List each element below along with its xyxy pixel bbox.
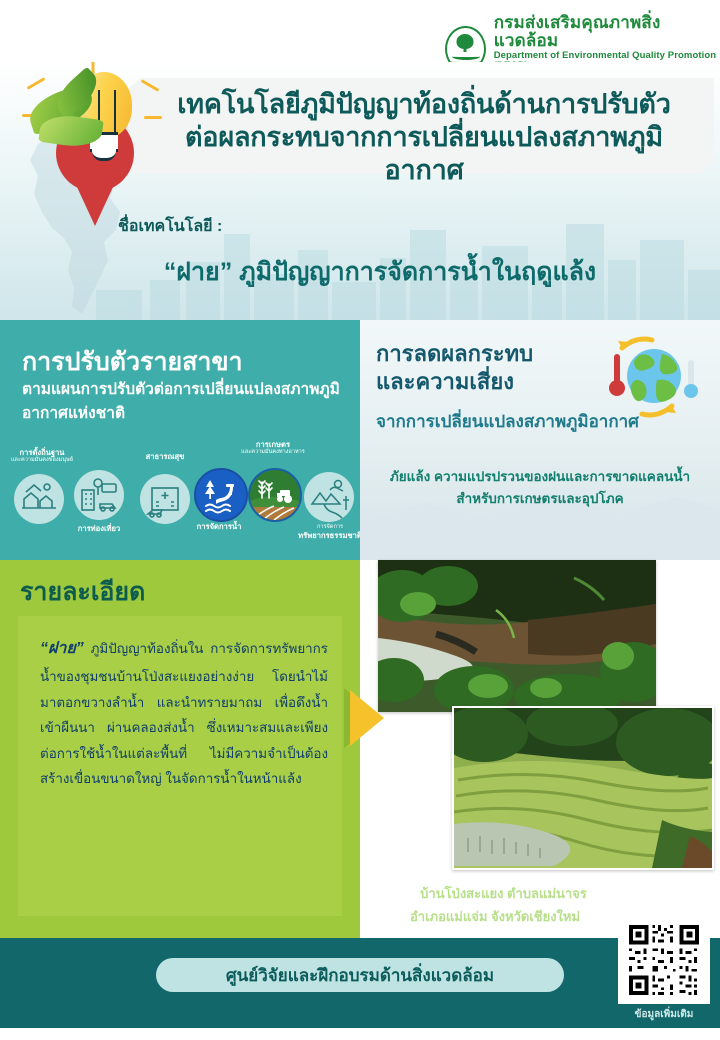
technology-label: ชื่อเทคโนโลยี :	[118, 214, 222, 239]
agriculture-crops-tractor-icon	[248, 468, 302, 522]
sector-label-agriculture: การเกษตร และความมั่นคงทางอาหาร	[234, 440, 312, 456]
risk-heading-line1: การลดผลกระทบ	[376, 341, 533, 366]
footer-band: สถานที่ : บ้านโป่งสะแยง ตำบลแม่นาจร อำเภ…	[0, 938, 720, 1028]
detail-text-box: “ฝาย” ภูมิปัญญาท้องถิ่นใน การจัดการทรัพย…	[18, 616, 342, 916]
location-line1: บ้านโป่งสะแยง ตำบลแม่นาจร	[420, 886, 587, 901]
right-triangle-arrow-icon	[350, 690, 384, 746]
settlement-houses-icon	[14, 474, 64, 524]
org-name-thai: กรมส่งเสริมคุณภาพสิ่งแวดล้อม	[494, 14, 720, 50]
detail-heading: รายละเอียด	[20, 572, 145, 612]
qr-code-icon[interactable]	[618, 916, 710, 1004]
location-key: สถานที่ :	[368, 886, 417, 901]
sector-label-settlement: การตั้งถิ่นฐาน และความมั่นคงของมนุษย์	[6, 448, 78, 464]
sector-item-natural-resources[interactable]: การจัดการ ทรัพยากรธรรมชาติ	[304, 472, 354, 522]
page-title-line1: เทคโนโลยีภูมิปัญญาท้องถิ่นด้านการปรับตัว	[148, 88, 700, 121]
page-title-line2: ต่อผลกระทบจากการเปลี่ยนแปลงสภาพภูมิอากาศ	[148, 121, 700, 187]
title-block: เทคโนโลยีภูมิปัญญาท้องถิ่นด้านการปรับตัว…	[148, 88, 700, 187]
sector-icon-row: การตั้งถิ่นฐาน และความมั่นคงของมนุษย์	[6, 448, 358, 556]
poster-root: กรมส่งเสริมคุณภาพสิ่งแวดล้อม Department …	[0, 0, 720, 1040]
sector-label-tourism: การท่องเที่ยว	[60, 524, 138, 533]
water-management-tap-river-icon	[194, 468, 248, 522]
sector-label-public-health: สาธารณสุข	[128, 452, 202, 461]
center-name-label: ศูนย์วิจัยและฝึกอบรมด้านสิ่งแวดล้อม	[226, 962, 494, 989]
adaptation-panel: การปรับตัวรายสาขา ตามแผนการปรับตัวต่อการ…	[0, 320, 360, 560]
photo-check-dam-stream	[378, 560, 656, 712]
photo-column	[360, 560, 720, 938]
location-line2: อำเภอแม่แจ่ม จังหวัดเชียงใหม่	[368, 906, 628, 929]
qr-block[interactable]: ข้อมูลเพิ่มเติม	[618, 916, 710, 1024]
risk-heading-line2: และความเสี่ยง	[376, 369, 514, 394]
tourism-city-car-icon	[74, 470, 124, 520]
sector-label-water-management: การจัดการน้ำ	[184, 522, 254, 531]
sector-item-water-management[interactable]: การจัดการน้ำ	[194, 468, 244, 522]
risk-description: ภัยแล้ง ความแปรปรวนของฝนและการขาดแคลนน้ำ…	[372, 466, 708, 509]
hospital-ambulance-icon	[140, 474, 190, 524]
detail-body-text: ภูมิปัญญาท้องถิ่นใน การจัดการทรัพยากรน้ำ…	[40, 641, 328, 786]
globe-thermometer-climate-icon	[592, 332, 702, 424]
risk-heading: การลดผลกระทบ และความเสี่ยง	[376, 340, 533, 395]
adaptation-heading: การปรับตัวรายสาขา	[22, 342, 243, 382]
technology-name: “ฝาย” ภูมิปัญญาการจัดการน้ำในฤดูแล้ง	[0, 252, 720, 292]
detail-paragraph: “ฝาย” ภูมิปัญญาท้องถิ่นใน การจัดการทรัพย…	[40, 634, 328, 792]
natural-resources-mountain-icon	[304, 472, 354, 522]
center-name-pill[interactable]: ศูนย์วิจัยและฝึกอบรมด้านสิ่งแวดล้อม	[156, 958, 564, 992]
sector-item-settlement[interactable]: การตั้งถิ่นฐาน และความมั่นคงของมนุษย์	[14, 474, 64, 524]
sector-item-agriculture[interactable]: การเกษตร และความมั่นคงทางอาหาร	[248, 468, 298, 522]
adaptation-subheading: ตามแผนการปรับตัวต่อการเปลี่ยนแปลงสภาพภูม…	[22, 378, 340, 426]
photo-terraced-rice-field	[452, 706, 714, 870]
detail-panel: รายละเอียด “ฝาย” ภูมิปัญญาท้องถิ่นใน การ…	[0, 560, 360, 938]
detail-lead-word: “ฝาย”	[40, 640, 84, 657]
hero-section: เทคโนโลยีภูมิปัญญาท้องถิ่นด้านการปรับตัว…	[0, 62, 720, 320]
risk-reduction-panel: การลดผลกระทบ และความเสี่ยง จากการเปลี่ยน…	[360, 320, 720, 560]
sector-item-tourism[interactable]: การท่องเที่ยว	[74, 470, 124, 520]
qr-caption: ข้อมูลเพิ่มเติม	[618, 1007, 710, 1022]
location-block: สถานที่ : บ้านโป่งสะแยง ตำบลแม่นาจร อำเภ…	[368, 883, 628, 929]
sector-item-public-health[interactable]: สาธารณสุข	[140, 474, 190, 524]
